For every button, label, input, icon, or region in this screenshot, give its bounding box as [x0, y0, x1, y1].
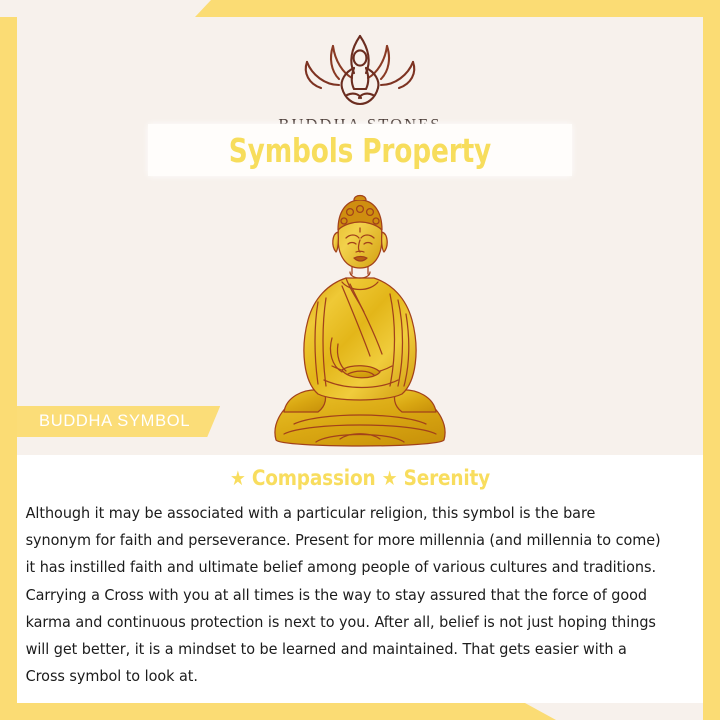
headline-keyword-compassion: Compassion — [252, 466, 376, 490]
page-title: Symbols Property — [229, 131, 491, 170]
lotus-meditation-icon — [285, 31, 435, 109]
category-tag-label: BUDDHA SYMBOL — [39, 412, 190, 431]
decorative-band-top — [195, 0, 720, 17]
decorative-band-bottom — [0, 703, 556, 720]
infographic-page: BUDDHA STONES Symbols Property — [0, 0, 720, 720]
star-icon-left: ★ — [230, 466, 246, 490]
category-tag: BUDDHA SYMBOL — [17, 406, 220, 437]
decorative-band-left — [0, 17, 17, 720]
article-body: Although it may be associated with a par… — [17, 490, 672, 690]
star-icon-right: ★ — [382, 466, 398, 490]
brand-logo: BUDDHA STONES — [17, 31, 703, 135]
decorative-band-right — [703, 0, 720, 720]
title-plate: Symbols Property — [148, 124, 572, 176]
article-headline: ★ Compassion ★ Serenity — [58, 455, 662, 490]
headline-keyword-serenity: Serenity — [404, 466, 490, 490]
golden-seated-buddha-statue-icon — [246, 194, 474, 459]
article-panel: ★ Compassion ★ Serenity Although it may … — [17, 455, 703, 703]
